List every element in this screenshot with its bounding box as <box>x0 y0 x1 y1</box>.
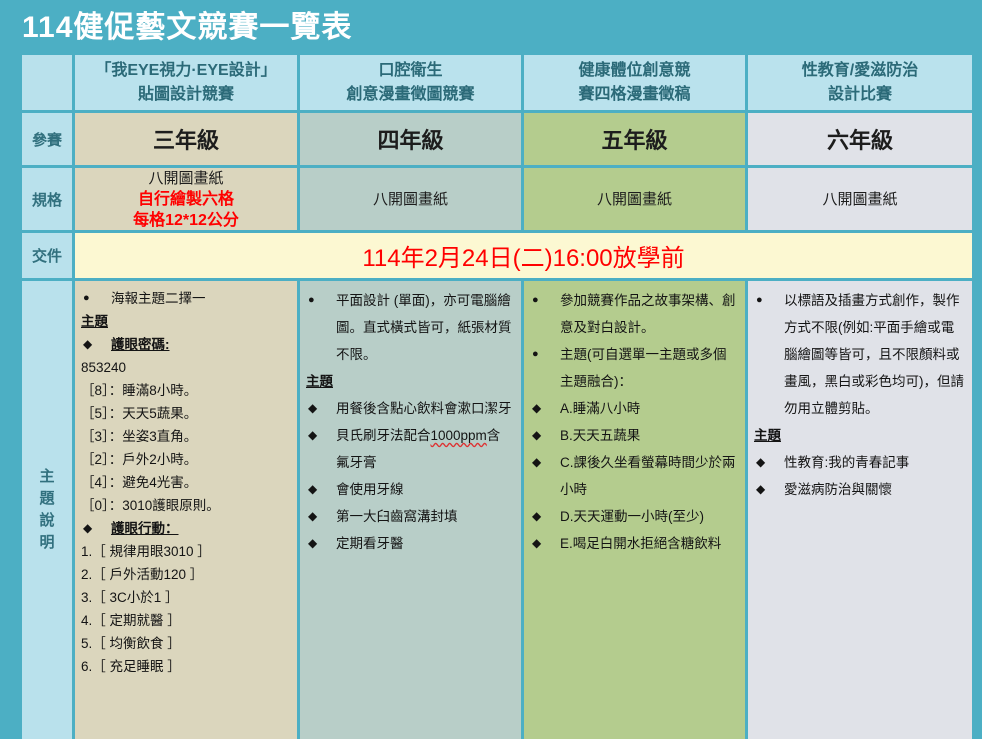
detail-list-item: ◆性教育:我的青春記事 <box>754 449 964 476</box>
detail-text: 性教育:我的青春記事 <box>784 455 909 470</box>
detail-list-item: ［4］：避免4光害。 <box>81 471 289 494</box>
bullet-circle-icon: ● <box>308 287 315 314</box>
detail-list-item: ●以標語及插畫方式創作，製作方式不限(例如:平面手繪或電腦繪圖等皆可，且不限顏料… <box>754 287 964 422</box>
detail-text: 用餐後含點心飲料會漱口潔牙 <box>336 401 512 416</box>
column-header-1-line2: 貼圖設計競賽 <box>95 83 276 107</box>
detail-cell-4: ●以標語及插畫方式創作，製作方式不限(例如:平面手繪或電腦繪圖等皆可，且不限顏料… <box>748 281 972 739</box>
detail-list-item: ［0］：3010護眼原則。 <box>81 494 289 517</box>
detail-text: ［0］：3010護眼原則。 <box>81 498 220 513</box>
page-title: 114健促藝文競賽一覽表 <box>22 8 352 48</box>
spec-line: 八開圖畫紙 <box>597 189 672 210</box>
bullet-diamond-icon: ◆ <box>532 449 541 476</box>
detail-text: ［3］：坐姿3直角。 <box>81 429 197 444</box>
detail-text: 愛滋病防治與關懷 <box>784 482 892 497</box>
detail-text: D.天天運動一小時(至少) <box>560 509 704 524</box>
column-header-4: 性教育/愛滋防治 設計比賽 <box>748 55 972 110</box>
column-header-4-line1: 性教育/愛滋防治 <box>802 59 918 83</box>
detail-text: 1.［ 規律用眼3010 ］ <box>81 544 211 559</box>
detail-text: 主題 <box>81 314 108 329</box>
detail-cell-2: ●平面設計 (單面)，亦可電腦繪圖。直式橫式皆可，紙張材質不限。主題◆用餐後含點… <box>300 281 521 739</box>
detail-text: 護眼行動： <box>111 521 179 536</box>
spec-line: 八開圖畫紙 <box>373 189 448 210</box>
bullet-circle-icon: ● <box>83 287 90 310</box>
column-header-3: 健康體位創意競 賽四格漫畫徵稿 <box>524 55 745 110</box>
detail-text: 護眼密碼: <box>111 337 170 352</box>
spec-cell-4: 八開圖畫紙 <box>748 168 972 230</box>
detail-list-item: 主題 <box>306 368 513 395</box>
detail-text: 4.［ 定期就醫 ］ <box>81 613 181 628</box>
detail-text: 以標語及插畫方式創作，製作方式不限(例如:平面手繪或電腦繪圖等皆可，且不限顏料或… <box>784 293 964 416</box>
detail-list-item: ◆E.喝足白開水拒絕含糖飲料 <box>530 530 737 557</box>
detail-text: E.喝足白開水拒絕含糖飲料 <box>560 536 721 551</box>
detail-list-item: ◆A.睡滿八小時 <box>530 395 737 422</box>
detail-text: ［8］：睡滿8小時。 <box>81 383 197 398</box>
detail-text: ［2］：戶外2小時。 <box>81 452 197 467</box>
detail-list-item: ［2］：戶外2小時。 <box>81 448 289 471</box>
detail-list-item: ◆會使用牙線 <box>306 476 513 503</box>
due-date-cell: 114年2月24日(二)16:00放學前 <box>75 233 972 278</box>
competition-table: 「我EYE視力·EYE設計」 貼圖設計競賽 口腔衛生 創意漫畫徵圖競賽 健康體位… <box>22 55 960 739</box>
row-label-detail-char: 明 <box>39 532 54 554</box>
bullet-diamond-icon: ◆ <box>83 333 92 356</box>
column-header-2: 口腔衛生 創意漫畫徵圖競賽 <box>300 55 521 110</box>
spec-cell-3: 八開圖畫紙 <box>524 168 745 230</box>
row-label-due: 交件 <box>22 233 72 278</box>
detail-text: 主題 <box>306 374 333 389</box>
detail-list-item: 1.［ 規律用眼3010 ］ <box>81 540 289 563</box>
detail-text: 6.［ 充足睡眠 ］ <box>81 659 181 674</box>
detail-list-item: 5.［ 均衡飲食 ］ <box>81 632 289 655</box>
spec-line: 八開圖畫紙 <box>133 168 239 189</box>
detail-text: ［4］：避免4光害。 <box>81 475 197 490</box>
spec-line: 自行繪製六格 <box>133 189 239 210</box>
row-label-detail-char: 題 <box>39 488 54 510</box>
detail-text: A.睡滿八小時 <box>560 401 640 416</box>
detail-list-item: ◆護眼密碼: <box>81 333 289 356</box>
detail-text: B.天天五蔬果 <box>560 428 640 443</box>
column-header-2-line2: 創意漫畫徵圖競賽 <box>346 83 474 107</box>
column-header-3-line1: 健康體位創意競 <box>578 59 690 83</box>
detail-list-item: 4.［ 定期就醫 ］ <box>81 609 289 632</box>
detail-text: 2.［ 戶外活動120 ］ <box>81 567 203 582</box>
bullet-diamond-icon: ◆ <box>756 476 765 503</box>
bullet-diamond-icon: ◆ <box>308 476 317 503</box>
detail-list-item: ◆愛滋病防治與關懷 <box>754 476 964 503</box>
spec-line: 八開圖畫紙 <box>822 189 897 210</box>
bullet-diamond-icon: ◆ <box>532 395 541 422</box>
detail-text: 定期看牙醫 <box>336 536 404 551</box>
spec-cell-2: 八開圖畫紙 <box>300 168 521 230</box>
detail-text: ［5］：天天5蔬果。 <box>81 406 197 421</box>
detail-text: 平面設計 (單面)，亦可電腦繪圖。直式橫式皆可，紙張材質不限。 <box>336 293 512 362</box>
detail-list-item: 853240 <box>81 356 289 379</box>
detail-list-item: ◆D.天天運動一小時(至少) <box>530 503 737 530</box>
bullet-diamond-icon: ◆ <box>83 517 92 540</box>
detail-list-item: 主題 <box>754 422 964 449</box>
row-label-entrant: 參賽 <box>22 113 72 165</box>
detail-text: 853240 <box>81 360 126 375</box>
bullet-circle-icon: ● <box>532 287 539 314</box>
bullet-circle-icon: ● <box>756 287 763 314</box>
detail-text: 海報主題二擇一 <box>111 291 206 306</box>
bullet-diamond-icon: ◆ <box>532 503 541 530</box>
detail-list-item: ◆第一大臼齒窩溝封填 <box>306 503 513 530</box>
detail-text: 5.［ 均衡飲食 ］ <box>81 636 181 651</box>
detail-list-item: ◆B.天天五蔬果 <box>530 422 737 449</box>
detail-list-item: 3.［ 3C小於1 ］ <box>81 586 289 609</box>
detail-text: 第一大臼齒窩溝封填 <box>336 509 458 524</box>
column-header-2-line1: 口腔衛生 <box>346 59 474 83</box>
detail-list-item: 6.［ 充足睡眠 ］ <box>81 655 289 678</box>
column-header-4-line2: 設計比賽 <box>802 83 918 107</box>
detail-cell-1: ●海報主題二擇一主題◆護眼密碼:853240［8］：睡滿8小時。［5］：天天5蔬… <box>75 281 297 739</box>
row-label-detail-char: 說 <box>39 510 54 532</box>
spec-cell-1: 八開圖畫紙自行繪製六格每格12*12公分 <box>75 168 297 230</box>
detail-text: 會使用牙線 <box>336 482 404 497</box>
detail-list-item: 2.［ 戶外活動120 ］ <box>81 563 289 586</box>
detail-text: 3.［ 3C小於1 ］ <box>81 590 179 605</box>
grade-cell-2: 四年級 <box>300 113 521 165</box>
detail-list-item: ◆C.課後久坐看螢幕時間少於兩小時 <box>530 449 737 503</box>
row-label-header <box>22 55 72 110</box>
detail-list-item: ●海報主題二擇一 <box>81 287 289 310</box>
detail-list-item: 主題 <box>81 310 289 333</box>
spec-line: 每格12*12公分 <box>133 210 239 231</box>
detail-cell-3: ●參加競賽作品之故事架構、創意及對白設計。●主題(可自選單一主題或多個主題融合)… <box>524 281 745 739</box>
detail-list-item: ◆用餐後含點心飲料會漱口潔牙 <box>306 395 513 422</box>
detail-list-item: ［5］：天天5蔬果。 <box>81 402 289 425</box>
column-header-1: 「我EYE視力·EYE設計」 貼圖設計競賽 <box>75 55 297 110</box>
detail-text: 參加競賽作品之故事架構、創意及對白設計。 <box>560 293 736 335</box>
detail-list-item: ［3］：坐姿3直角。 <box>81 425 289 448</box>
detail-text: C.課後久坐看螢幕時間少於兩小時 <box>560 455 736 497</box>
bullet-diamond-icon: ◆ <box>308 422 317 449</box>
grade-cell-4: 六年級 <box>748 113 972 165</box>
column-header-1-line1: 「我EYE視力·EYE設計」 <box>95 59 276 83</box>
detail-list-item: ◆護眼行動： <box>81 517 289 540</box>
grade-cell-1: 三年級 <box>75 113 297 165</box>
detail-list-item: ●參加競賽作品之故事架構、創意及對白設計。 <box>530 287 737 341</box>
bullet-diamond-icon: ◆ <box>532 530 541 557</box>
detail-text: 貝氏刷牙法配合1000ppm含氟牙膏 <box>336 428 500 470</box>
row-label-detail: 主題說明 <box>22 281 72 739</box>
spellcheck-token: 1000ppm <box>431 428 487 443</box>
column-header-3-line2: 賽四格漫畫徵稿 <box>578 83 690 107</box>
detail-text: 主題 <box>754 428 781 443</box>
bullet-diamond-icon: ◆ <box>756 449 765 476</box>
detail-list-item: ●平面設計 (單面)，亦可電腦繪圖。直式橫式皆可，紙張材質不限。 <box>306 287 513 368</box>
detail-text: 主題(可自選單一主題或多個主題融合)： <box>560 347 727 389</box>
detail-list-item: ●主題(可自選單一主題或多個主題融合)： <box>530 341 737 395</box>
bullet-diamond-icon: ◆ <box>308 503 317 530</box>
detail-list-item: ◆貝氏刷牙法配合1000ppm含氟牙膏 <box>306 422 513 476</box>
detail-list-item: ◆定期看牙醫 <box>306 530 513 557</box>
row-label-detail-char: 主 <box>39 466 54 488</box>
bullet-diamond-icon: ◆ <box>532 422 541 449</box>
bullet-diamond-icon: ◆ <box>308 530 317 557</box>
detail-list-item: ［8］：睡滿8小時。 <box>81 379 289 402</box>
bullet-diamond-icon: ◆ <box>308 395 317 422</box>
grade-cell-3: 五年級 <box>524 113 745 165</box>
bullet-circle-icon: ● <box>532 341 539 368</box>
slide-page: 114健促藝文競賽一覽表 「我EYE視力·EYE設計」 貼圖設計競賽 口腔衛生 … <box>0 0 982 739</box>
row-label-spec: 規格 <box>22 168 72 230</box>
